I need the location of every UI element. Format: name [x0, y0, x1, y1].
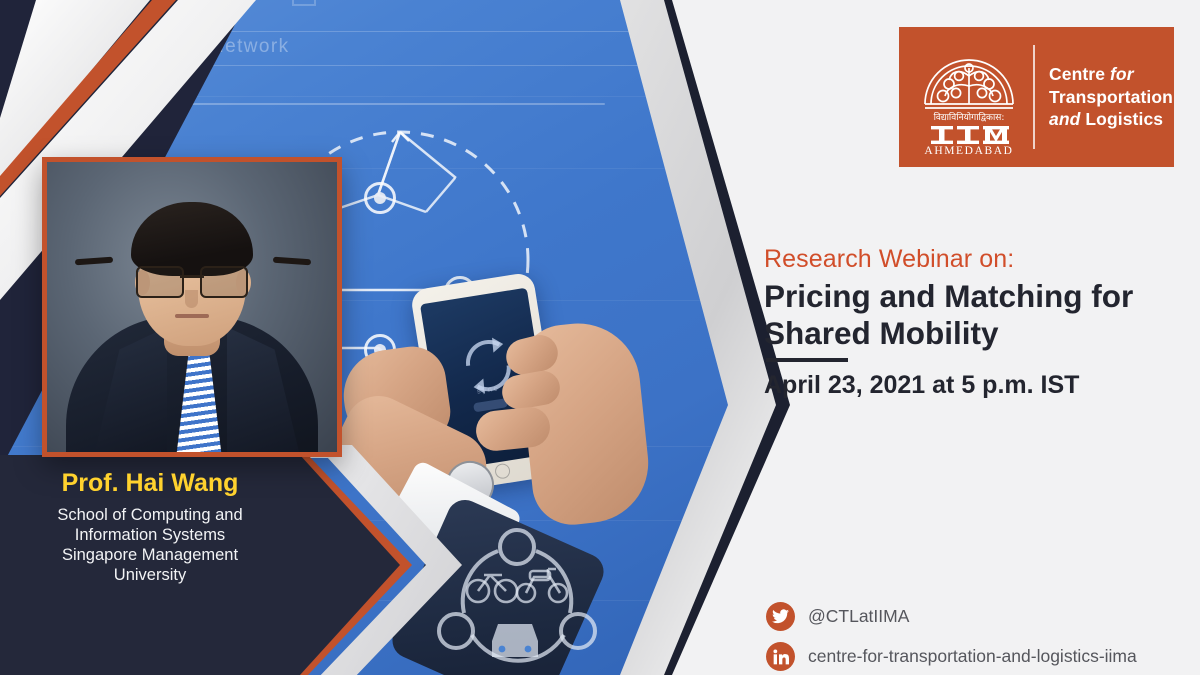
- centre-word-for: for: [1110, 64, 1134, 84]
- mobility-cluster-svg: [430, 525, 605, 675]
- linkedin-icon[interactable]: [766, 642, 795, 671]
- webinar-title-line-1: Pricing and Matching for: [764, 278, 1164, 315]
- speaker-photo: [42, 157, 342, 457]
- social-links: @CTLatIIMA centre-for-transportation-and…: [766, 602, 1137, 675]
- webinar-title: Pricing and Matching for Shared Mobility: [764, 278, 1164, 351]
- hud-bracket-small-icon: [292, 0, 316, 6]
- speaker-affiliation-line-1: School of Computing and: [0, 505, 300, 525]
- speaker-name: Prof. Hai Wang: [0, 470, 300, 498]
- centre-word-logistics: Logistics: [1085, 109, 1163, 129]
- centre-name: Centre for Transportation and Logistics: [1049, 63, 1173, 131]
- bicycle-icon: [467, 575, 517, 602]
- institute-city-text: AHMEDABAD: [924, 145, 1013, 156]
- webinar-eyebrow: Research Webinar on:: [764, 245, 1014, 274]
- sanskrit-motto-text: विद्याविनियोगाद्विकास:: [934, 111, 1005, 123]
- glasses-lens-left: [136, 266, 184, 298]
- glasses-lens-right: [200, 266, 248, 298]
- car-icon: [492, 624, 538, 657]
- network-node: [364, 182, 396, 214]
- logo-divider: [1033, 45, 1035, 149]
- social-row-linkedin[interactable]: centre-for-transportation-and-logistics-…: [766, 642, 1137, 671]
- phone-home-button: [494, 463, 511, 480]
- speaker-affiliation-line-4: University: [0, 565, 300, 585]
- twitter-icon[interactable]: [766, 602, 795, 631]
- social-row-twitter[interactable]: @CTLatIIMA: [766, 602, 1137, 631]
- linkedin-handle[interactable]: centre-for-transportation-and-logistics-…: [808, 646, 1137, 667]
- webinar-datetime: April 23, 2021 at 5 p.m. IST: [764, 371, 1079, 400]
- centre-word-centre: Centre: [1049, 64, 1105, 84]
- shared-mobility-icon-cluster: [430, 525, 605, 675]
- linkedin-in-glyph: [773, 649, 789, 665]
- hud-label: Global Network: [140, 36, 289, 58]
- centre-word-and: and: [1049, 109, 1080, 129]
- iim-ahmedabad-emblem-icon: विद्याविनियोगाद्विकास: AHMEDABAD: [909, 38, 1029, 156]
- speaker-info-block: Prof. Hai Wang School of Computing and I…: [0, 470, 300, 585]
- webinar-poster: Global Network: [0, 0, 1200, 675]
- hud-bracket-right-icon: [152, 0, 188, 20]
- title-underline-rule: [766, 358, 848, 362]
- photo-mouth: [175, 314, 209, 318]
- scooter-icon: [517, 569, 567, 602]
- hud-progress-bar: [60, 101, 185, 106]
- iima-ctl-logo: विद्याविनियोगाद्विकास: AHMEDABAD Centre …: [899, 27, 1174, 167]
- twitter-bird-glyph: [772, 609, 789, 624]
- twitter-handle[interactable]: @CTLatIIMA: [808, 606, 909, 627]
- hud-bracket-left-icon: [118, 0, 154, 20]
- webinar-title-line-2: Shared Mobility: [764, 315, 1164, 352]
- speaker-affiliation-line-3: Singapore Management: [0, 545, 300, 565]
- centre-word-transportation: Transportation: [1049, 86, 1173, 109]
- photo-nose: [185, 290, 198, 308]
- speaker-affiliation-line-2: Information Systems: [0, 525, 300, 545]
